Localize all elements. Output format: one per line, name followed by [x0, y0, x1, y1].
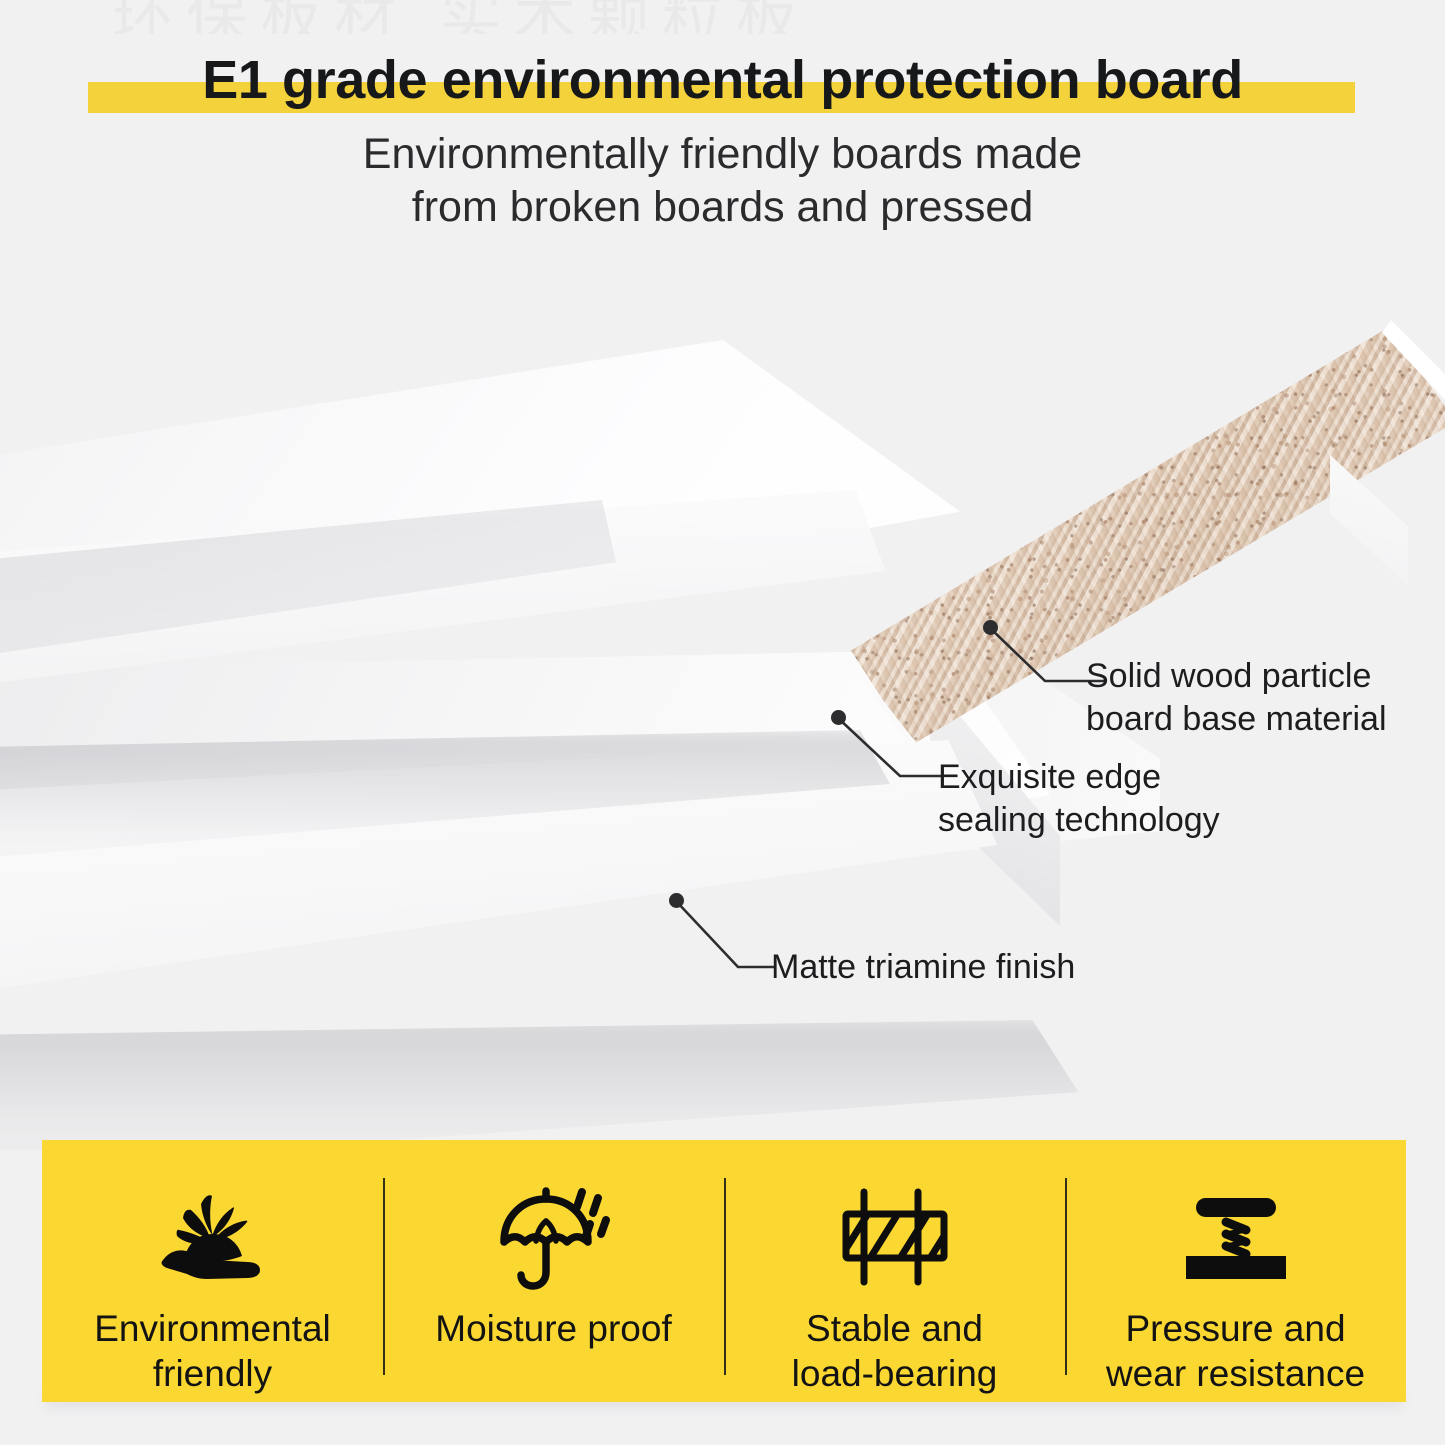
umbrella-with-rain-icon [494, 1178, 614, 1298]
lower-board-shadow [0, 1020, 1090, 1150]
feature-bar: Environmental friendly [42, 1140, 1406, 1402]
header: E1 grade environmental protection board [0, 36, 1445, 124]
barricade-barrier-icon [838, 1178, 952, 1298]
subtitle-line-2: from broken boards and pressed [0, 181, 1445, 234]
callout-text: Solid wood particle board base material [1086, 655, 1387, 741]
feature-label: Moisture proof [435, 1306, 672, 1351]
upper-board-end-cap [1330, 455, 1445, 665]
feature-label: Pressure and wear resistance [1106, 1306, 1365, 1396]
page-title: E1 grade environmental protection board [0, 36, 1445, 124]
callout-leader-line [828, 708, 948, 790]
feature-label: Stable and load-bearing [792, 1306, 998, 1396]
feature-pressure-wear-resistance[interactable]: Pressure and wear resistance [1065, 1140, 1406, 1402]
infographic-canvas: 环保板材 实木颗粒板 E1 grade environmental protec… [0, 0, 1445, 1445]
subtitle-line-1: Environmentally friendly boards made [0, 128, 1445, 181]
top-watermark-strip: 环保板材 实木颗粒板 [0, 0, 1445, 34]
page-subtitle: Environmentally friendly boards made fro… [0, 128, 1445, 234]
feature-moisture-proof[interactable]: Moisture proof [383, 1140, 724, 1402]
feature-label: Environmental friendly [94, 1306, 331, 1396]
callout-leader-line [666, 891, 781, 981]
feature-environmental-friendly[interactable]: Environmental friendly [42, 1140, 383, 1402]
callout-text: Matte triamine finish [771, 946, 1075, 989]
feature-stable-load-bearing[interactable]: Stable and load-bearing [724, 1140, 1065, 1402]
hand-with-sprout-icon [155, 1178, 271, 1298]
compression-press-icon [1179, 1178, 1293, 1298]
callout-text: Exquisite edge sealing technology [938, 756, 1220, 842]
top-watermark-text: 环保板材 实木颗粒板 [112, 0, 810, 34]
